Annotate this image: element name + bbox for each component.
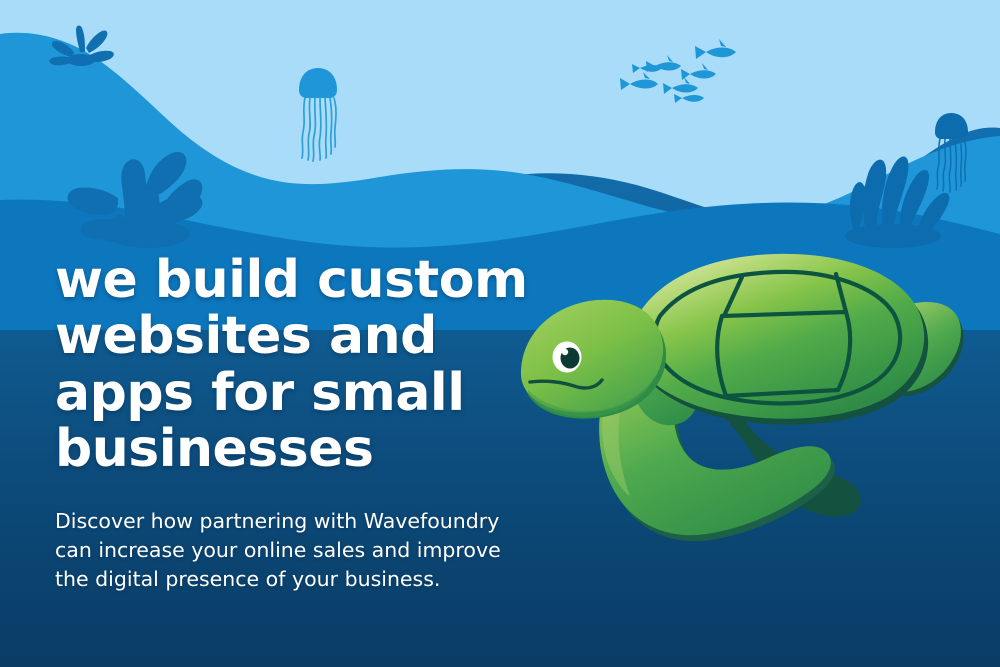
fish	[632, 64, 662, 73]
sky-water-band	[0, 0, 1000, 223]
fish	[646, 55, 681, 72]
fish	[663, 77, 698, 94]
page-title: we build custom websites and apps for sm…	[55, 252, 575, 478]
underwater-hero-banner: we build custom websites and apps for sm…	[0, 0, 1000, 667]
fish	[620, 72, 658, 90]
turtle-front-flipper-shadow	[700, 387, 861, 516]
fish	[695, 39, 736, 59]
coral-sprout-left	[50, 26, 114, 66]
turtle-shell	[629, 254, 928, 425]
turtle-rear-flipper	[875, 302, 964, 396]
fish-school	[620, 39, 736, 103]
turtle-front-flipper	[599, 376, 835, 541]
seaweed-right	[845, 157, 949, 248]
jellyfish-right	[935, 113, 968, 192]
coral-cluster-left	[67, 152, 202, 248]
jellyfish-left	[299, 68, 337, 161]
hero-subtitle: Discover how partnering with Wavefoundry…	[55, 507, 575, 595]
fish	[681, 63, 716, 80]
turtle-figure	[521, 254, 963, 541]
turtle-neck	[573, 338, 700, 426]
fish	[674, 94, 704, 103]
hero-copy: we build custom websites and apps for sm…	[55, 252, 575, 595]
